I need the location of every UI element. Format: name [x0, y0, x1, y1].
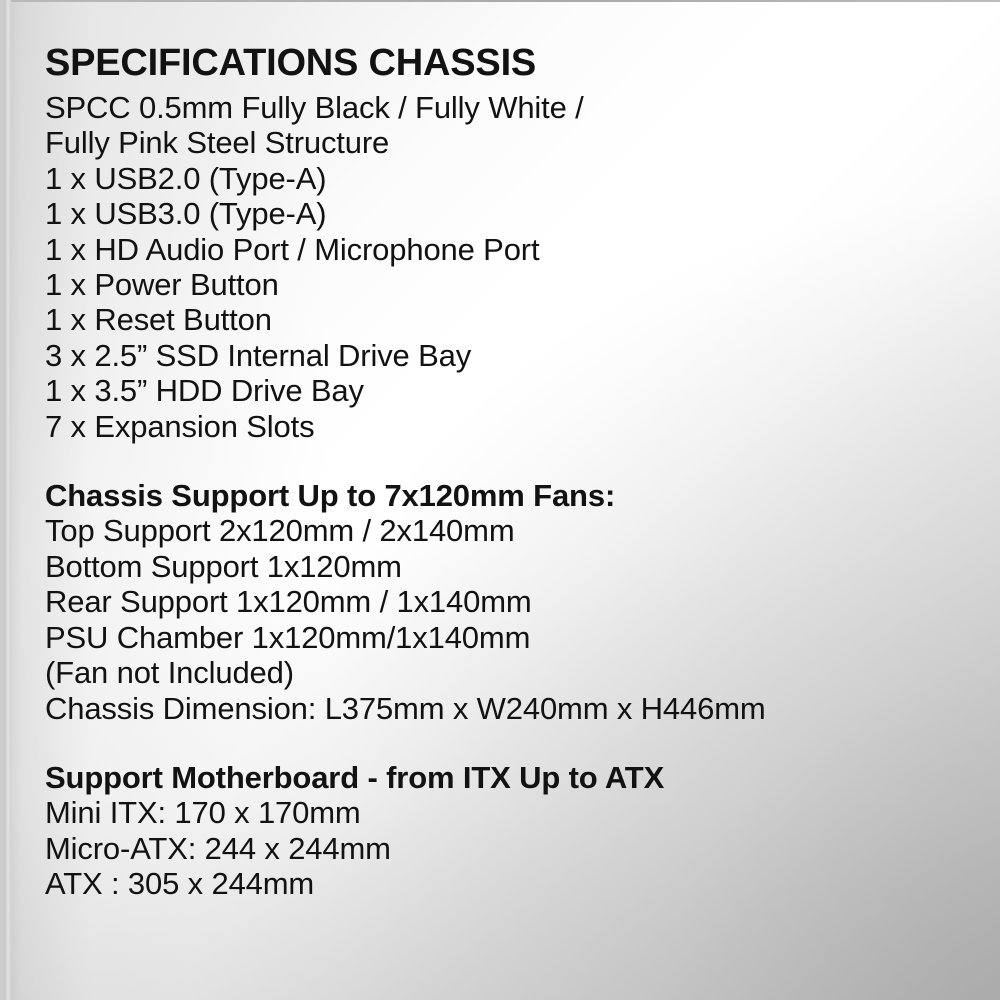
spec-line: 1 x HD Audio Port / Microphone Port — [45, 232, 980, 267]
spec-line: 1 x USB2.0 (Type-A) — [45, 161, 980, 196]
specifications-card: SPECIFICATIONS CHASSIS SPCC 0.5mm Fully … — [0, 0, 1000, 1000]
section-motherboard-support: Support Motherboard - from ITX Up to ATX… — [45, 760, 980, 902]
spec-line: 3 x 2.5” SSD Internal Drive Bay — [45, 338, 980, 373]
spec-line: PSU Chamber 1x120mm/1x140mm — [45, 620, 980, 655]
spec-line: Rear Support 1x120mm / 1x140mm — [45, 584, 980, 619]
spec-line: 1 x USB3.0 (Type-A) — [45, 196, 980, 231]
spec-line: Fully Pink Steel Structure — [45, 125, 980, 160]
spec-line: Chassis Dimension: L375mm x W240mm x H44… — [45, 691, 980, 726]
section-spacer — [45, 726, 980, 760]
left-edge-line — [0, 0, 11, 1000]
top-edge-line — [0, 0, 1000, 2]
spec-line: Bottom Support 1x120mm — [45, 549, 980, 584]
spec-line: Micro-ATX: 244 x 244mm — [45, 831, 980, 866]
spec-line: 7 x Expansion Slots — [45, 409, 980, 444]
spec-line: ATX : 305 x 244mm — [45, 866, 980, 901]
section-spacer — [45, 444, 980, 478]
spec-line: 1 x 3.5” HDD Drive Bay — [45, 373, 980, 408]
specifications-content: SPECIFICATIONS CHASSIS SPCC 0.5mm Fully … — [45, 40, 980, 902]
spec-line: SPCC 0.5mm Fully Black / Fully White / — [45, 90, 980, 125]
section-heading: Support Motherboard - from ITX Up to ATX — [45, 760, 980, 795]
section-fan-support: Chassis Support Up to 7x120mm Fans:Top S… — [45, 478, 980, 726]
spec-line: 1 x Power Button — [45, 267, 980, 302]
section-chassis-specs: SPCC 0.5mm Fully Black / Fully White /Fu… — [45, 90, 980, 444]
spec-line: (Fan not Included) — [45, 655, 980, 690]
page-title: SPECIFICATIONS CHASSIS — [45, 40, 980, 86]
spec-line: Mini ITX: 170 x 170mm — [45, 795, 980, 830]
section-heading: Chassis Support Up to 7x120mm Fans: — [45, 478, 980, 513]
spec-line: 1 x Reset Button — [45, 302, 980, 337]
spec-line: Top Support 2x120mm / 2x140mm — [45, 513, 980, 548]
